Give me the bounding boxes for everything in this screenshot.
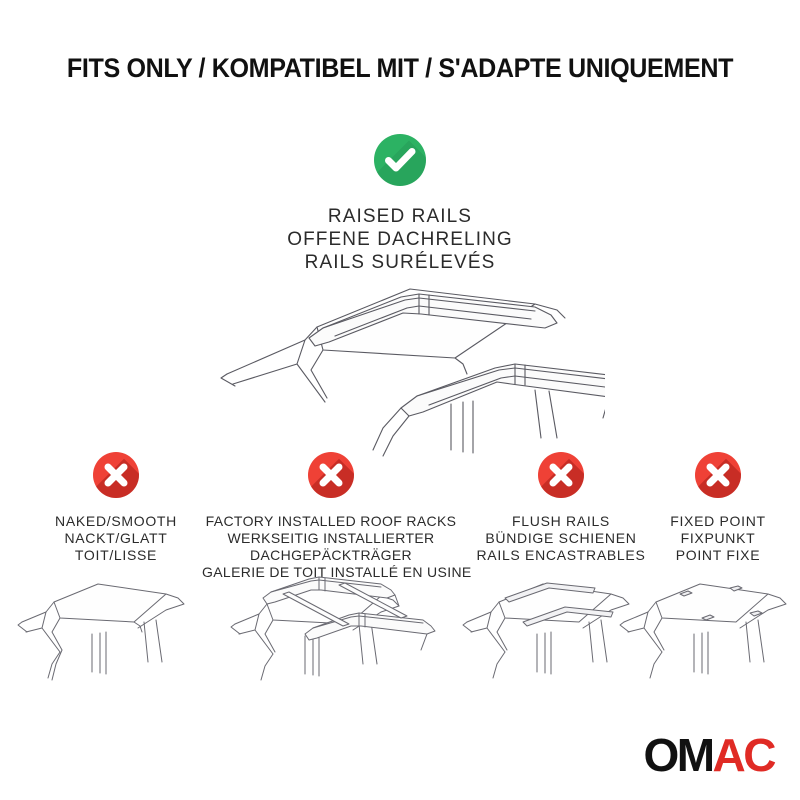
label-fr: POINT FIXE <box>638 547 798 564</box>
bare-roof-illustration <box>16 570 216 695</box>
label-de2: DACHGEPÄCKTRÄGER <box>202 547 460 564</box>
incompatible-item-factory-racks: FACTORY INSTALLED ROOF RACKS WERKSEITIG … <box>202 452 460 581</box>
fitment-infographic: FITS ONLY / KOMPATIBEL MIT / S'ADAPTE UN… <box>0 0 800 800</box>
logo-text-ac: AC <box>713 729 774 781</box>
red-cross-icon <box>93 452 139 498</box>
label-fr: TOIT/LISSE <box>12 547 220 564</box>
page-title: FITS ONLY / KOMPATIBEL MIT / S'ADAPTE UN… <box>28 52 772 84</box>
factory-crossbars-roof-illustration <box>221 570 441 695</box>
label-de: NACKT/GLATT <box>12 530 220 547</box>
incompatible-item-naked-smooth: NAKED/SMOOTH NACKT/GLATT TOIT/LISSE <box>12 452 220 564</box>
raised-rails-illustration <box>205 278 605 458</box>
logo-text-om: OM <box>643 729 712 781</box>
incompatible-label-fixed-point: FIXED POINT FIXPUNKT POINT FIXE <box>638 513 798 564</box>
compatible-label-en: RAISED RAILS <box>0 205 800 228</box>
incompatible-label-naked-smooth: NAKED/SMOOTH NACKT/GLATT TOIT/LISSE <box>12 513 220 564</box>
label-en: FIXED POINT <box>638 513 798 530</box>
red-cross-icon <box>538 452 584 498</box>
fixed-point-roof-illustration <box>618 570 800 695</box>
red-cross-icon <box>695 452 741 498</box>
incompatible-section: NAKED/SMOOTH NACKT/GLATT TOIT/LISSE <box>0 452 800 652</box>
compatible-label: RAISED RAILS OFFENE DACHRELING RAILS SUR… <box>0 205 800 274</box>
compatible-label-de: OFFENE DACHRELING <box>0 228 800 251</box>
omac-logo: OMAC <box>643 732 774 778</box>
label-de: WERKSEITIG INSTALLIERTER <box>202 530 460 547</box>
compatible-section: RAISED RAILS OFFENE DACHRELING RAILS SUR… <box>0 134 800 274</box>
label-de: FIXPUNKT <box>638 530 798 547</box>
red-cross-icon <box>308 452 354 498</box>
incompatible-item-fixed-point: FIXED POINT FIXPUNKT POINT FIXE <box>638 452 798 564</box>
compatible-label-fr: RAILS SURÉLEVÉS <box>0 251 800 274</box>
label-en: NAKED/SMOOTH <box>12 513 220 530</box>
green-check-icon <box>374 134 426 186</box>
label-en: FACTORY INSTALLED ROOF RACKS <box>202 513 460 530</box>
